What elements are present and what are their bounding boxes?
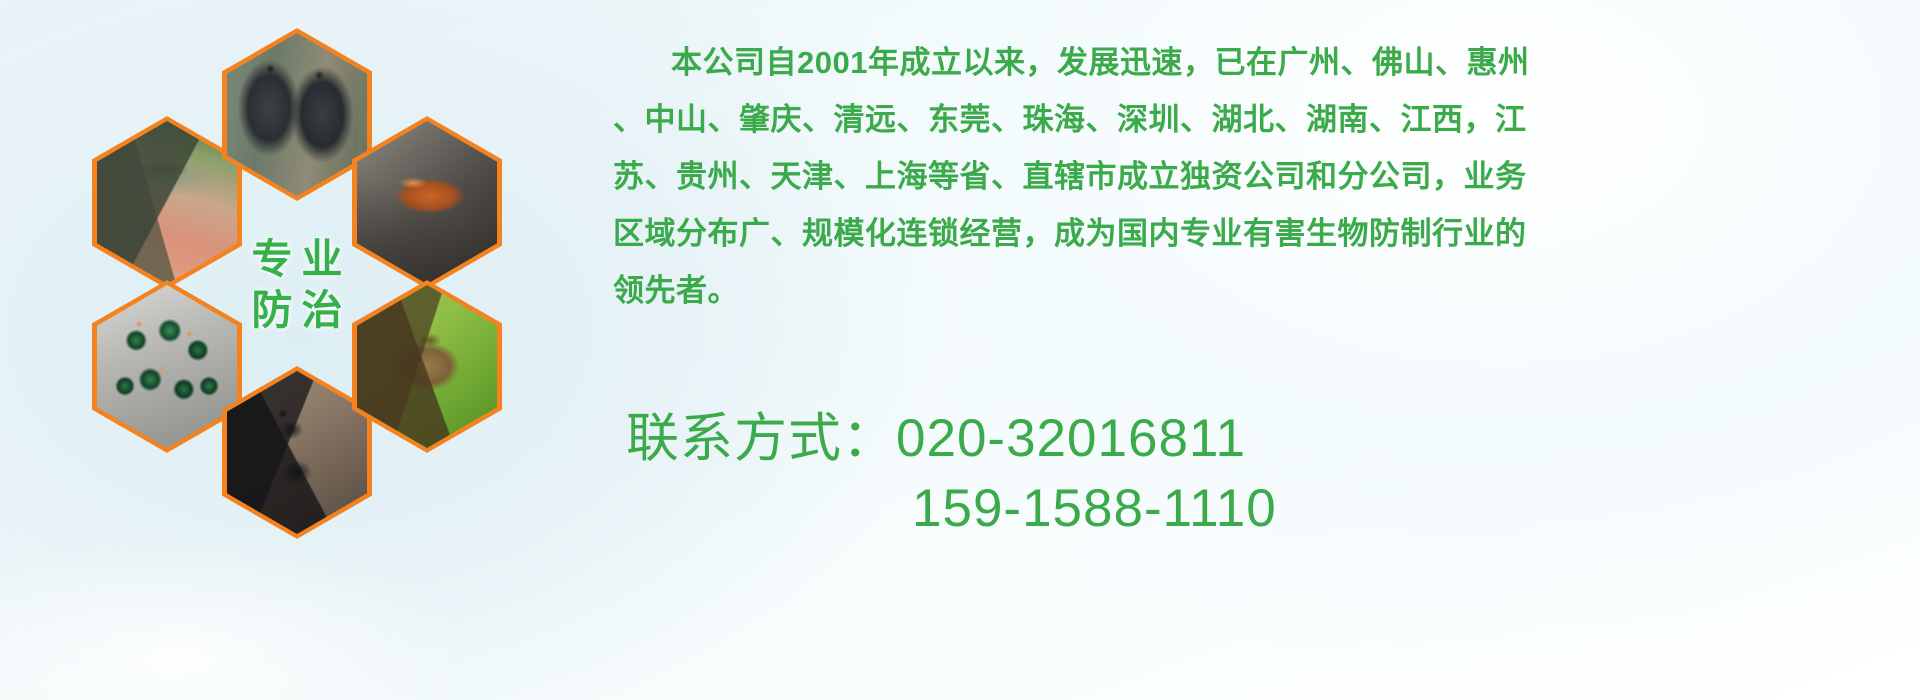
contact-phone-secondary[interactable]: 159-1588-1110 (626, 474, 1866, 544)
contact-primary-line: 联系方式：020-32016811 (626, 404, 1866, 474)
hex-cell-cockroach (352, 116, 502, 289)
description-line-1: 本公司自2001年成立以来，发展迅速，已在广州、佛山、惠州 (613, 34, 1863, 91)
contact-block: 联系方式：020-32016811 159-1588-1110 (626, 404, 1866, 544)
hex-cell-rats (222, 28, 372, 201)
description-line-4: 区域分布广、规模化连锁经营，成为国内专业有害生物防制行业的 (613, 205, 1863, 262)
description-line-3: 苏、贵州、天津、上海等省、直辖市成立独资公司和分公司，业务 (613, 148, 1863, 205)
hex-cell-slogan: 专业 防治 (222, 198, 372, 371)
contact-label: 联系方式： (626, 409, 896, 468)
hex-cell-mosquito (92, 116, 242, 289)
contact-phone-primary[interactable]: 020-32016811 (896, 409, 1246, 468)
slogan-line-1: 专业 (243, 239, 352, 280)
company-description: 本公司自2001年成立以来，发展迅速，已在广州、佛山、惠州 、中山、肇庆、清远、… (613, 34, 1863, 319)
honeycomb-collage: 专业 防治 (92, 8, 592, 568)
hex-cell-ants (222, 366, 372, 539)
pest-control-banner: 专业 防治 本公司自2001年成立以来，发展迅速，已在广州、佛山、惠州 、中山、… (0, 0, 1920, 700)
description-line-5: 领先者。 (613, 262, 1863, 319)
description-line-2: 、中山、肇庆、清远、东莞、珠海、深圳、湖北、湖南、江西，江 (613, 91, 1863, 148)
hex-cell-stink-bug (352, 280, 502, 453)
hex-cell-flies (92, 280, 242, 453)
slogan-line-2: 防治 (243, 290, 352, 331)
